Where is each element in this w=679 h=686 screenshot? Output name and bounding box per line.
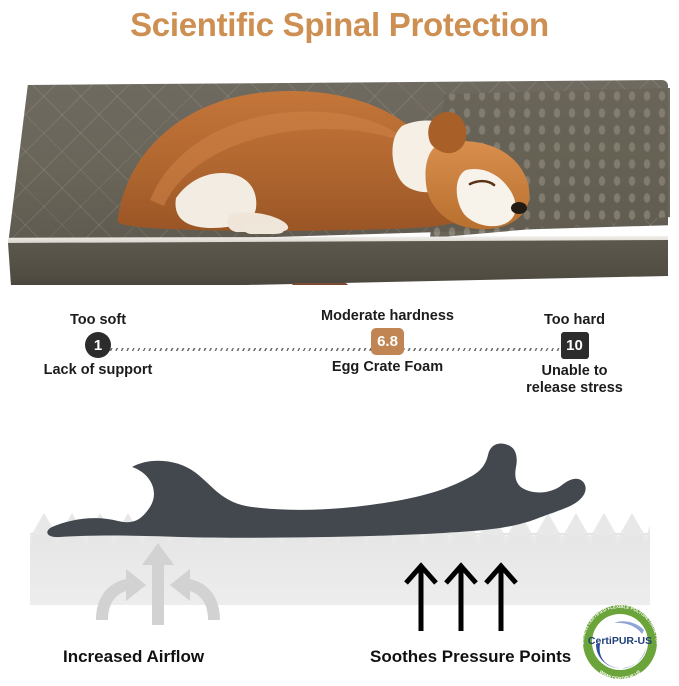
- pressure-label: Soothes Pressure Points: [370, 647, 571, 667]
- status-badge: 1: [85, 332, 111, 358]
- scale-stop-bottom-label: Lack of support: [28, 362, 168, 379]
- product-photo: WoofBone: [0, 50, 679, 285]
- scale-stop-top-label: Too hard: [512, 312, 637, 328]
- certipur-us-logo: CertiPUR-US CONTAINS CERTIFIED FLEXIBLE …: [572, 600, 668, 683]
- scale-stop-bottom-label: Unable torelease stress: [512, 363, 637, 396]
- dog-silhouette-icon: [47, 443, 585, 537]
- product-infographic: Scientific Spinal Protection WoofBone: [0, 0, 679, 686]
- scale-stop-top-label: Moderate hardness: [305, 308, 470, 324]
- scale-stop-top-label: Too soft: [28, 312, 168, 328]
- status-badge: 10: [561, 332, 589, 359]
- status-badge: 6.8: [371, 328, 404, 355]
- scale-stop-too-hard: Too hard 10 Unable torelease stress: [512, 312, 637, 396]
- dog-bed-image: WoofBone: [0, 50, 679, 285]
- page-title: Scientific Spinal Protection: [0, 0, 679, 50]
- scale-stop-too-soft: Too soft 1 Lack of support: [28, 312, 168, 379]
- certipur-name: CertiPUR-US: [588, 635, 652, 647]
- pressure-arrows-icon: [406, 566, 516, 631]
- airflow-label: Increased Airflow: [63, 647, 204, 667]
- hardness-scale: Too soft 1 Lack of support Moderate hard…: [0, 300, 679, 410]
- scale-stop-bottom-label: Egg Crate Foam: [305, 359, 470, 376]
- dog-photo-illustration: [0, 50, 679, 285]
- scale-stop-moderate: Moderate hardness 6.8 Egg Crate Foam: [305, 308, 470, 376]
